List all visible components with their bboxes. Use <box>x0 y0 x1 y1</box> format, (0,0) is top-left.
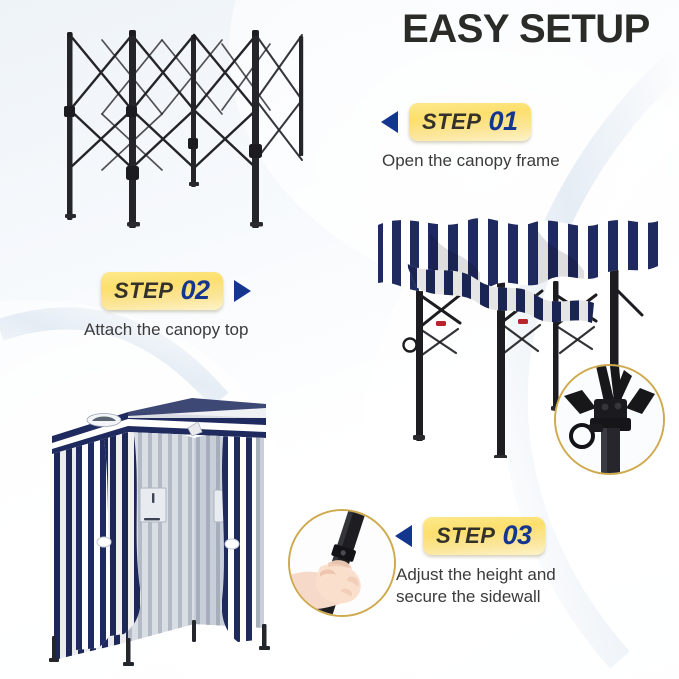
changing-room-illustration <box>32 392 322 670</box>
step-03-caption: Adjust the height and secure the sidewal… <box>396 564 556 608</box>
page-title: EASY SETUP <box>381 8 671 50</box>
hand-pole-drawing <box>290 511 394 615</box>
step-02-badge: STEP 02 <box>101 272 223 310</box>
arrow-left-icon <box>395 525 412 547</box>
step-01-badge: STEP 01 <box>409 103 531 141</box>
step-02-badge-row: STEP 02 <box>101 272 251 310</box>
infographic-page: EASY SETUP STEP 01 Open the canopy frame… <box>0 0 679 679</box>
step-02-badge-word: STEP <box>114 280 173 302</box>
step-block-03: STEP 03 Adjust the height and secure the… <box>395 517 556 608</box>
step-01-badge-word: STEP <box>422 111 481 133</box>
canopy-frame-illustration <box>44 18 326 228</box>
brand-logo-patch <box>87 414 121 427</box>
step-03-badge-number: 03 <box>502 522 531 549</box>
hand-pole-inset <box>288 509 396 617</box>
step-block-01: STEP 01 Open the canopy frame <box>381 103 560 172</box>
step-block-02: STEP 02 Attach the canopy top <box>101 272 251 341</box>
step-02-caption: Attach the canopy top <box>84 319 251 341</box>
step-01-badge-number: 01 <box>488 108 517 135</box>
step-03-badge-word: STEP <box>436 525 495 547</box>
corner-hub-inset <box>554 364 665 475</box>
step-01-caption: Open the canopy frame <box>382 150 560 172</box>
step-02-badge-number: 02 <box>180 277 209 304</box>
arrow-right-icon <box>234 280 251 302</box>
arrow-left-icon <box>381 111 398 133</box>
step-03-badge: STEP 03 <box>423 517 545 555</box>
step-01-badge-row: STEP 01 <box>381 103 560 141</box>
corner-hub-drawing <box>556 366 663 473</box>
step-03-badge-row: STEP 03 <box>395 517 556 555</box>
